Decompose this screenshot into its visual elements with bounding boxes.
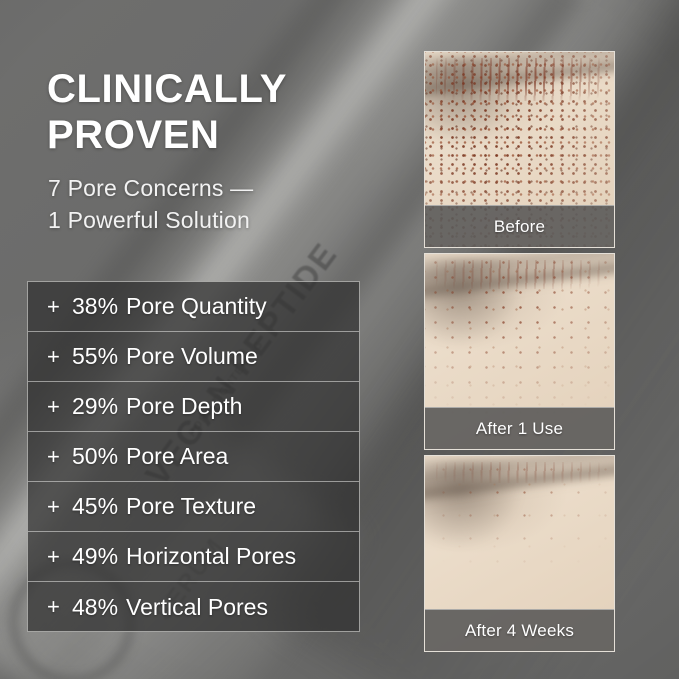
claim-row: + 48% Vertical Pores <box>28 582 359 632</box>
subheadline-line-1: 7 Pore Concerns — <box>48 172 388 204</box>
headline-line-1: CLINICALLY <box>47 66 397 112</box>
photo-after-4-weeks: After 4 Weeks <box>424 455 615 652</box>
subheadline-line-2: 1 Powerful Solution <box>48 204 388 236</box>
pore-streaks <box>436 260 602 289</box>
photo-caption: Before <box>425 205 614 247</box>
claim-percent: 49% <box>72 543 118 570</box>
claim-label: Vertical Pores <box>126 594 268 621</box>
headline-line-2: PROVEN <box>47 112 397 158</box>
claim-label: Pore Volume <box>126 343 258 370</box>
photo-before: Before <box>424 51 615 248</box>
before-after-photo-stack: Before After 1 Use After 4 Weeks <box>424 51 615 652</box>
plus-icon: + <box>47 544 72 570</box>
plus-icon: + <box>47 344 72 370</box>
claim-percent: 29% <box>72 393 118 420</box>
claim-percent: 50% <box>72 443 118 470</box>
plus-icon: + <box>47 394 72 420</box>
claim-row: + 45% Pore Texture <box>28 482 359 532</box>
claim-percent: 55% <box>72 343 118 370</box>
claim-percent: 38% <box>72 293 118 320</box>
photo-caption: After 1 Use <box>425 407 614 449</box>
claim-row: + 50% Pore Area <box>28 432 359 482</box>
pore-streaks <box>436 462 602 483</box>
plus-icon: + <box>47 494 72 520</box>
claim-label: Pore Texture <box>126 493 256 520</box>
claim-label: Pore Quantity <box>126 293 267 320</box>
claim-label: Horizontal Pores <box>126 543 296 570</box>
subheadline: 7 Pore Concerns — 1 Powerful Solution <box>48 172 388 236</box>
claim-percent: 45% <box>72 493 118 520</box>
plus-icon: + <box>47 594 72 620</box>
claim-label: Pore Depth <box>126 393 242 420</box>
claims-list: + 38% Pore Quantity + 55% Pore Volume + … <box>27 281 360 632</box>
headline: CLINICALLY PROVEN <box>47 66 397 158</box>
claim-row: + 29% Pore Depth <box>28 382 359 432</box>
promo-graphic: VEGAN PEPTIDE PORE TIGHTENING SERUM CLIN… <box>0 0 679 679</box>
claim-percent: 48% <box>72 594 118 621</box>
claim-row: + 38% Pore Quantity <box>28 282 359 332</box>
plus-icon: + <box>47 294 72 320</box>
photo-caption: After 4 Weeks <box>425 609 614 651</box>
plus-icon: + <box>47 444 72 470</box>
photo-after-1-use: After 1 Use <box>424 253 615 450</box>
pore-streaks <box>436 58 602 101</box>
claim-row: + 55% Pore Volume <box>28 332 359 382</box>
claim-label: Pore Area <box>126 443 228 470</box>
claim-row: + 49% Horizontal Pores <box>28 532 359 582</box>
